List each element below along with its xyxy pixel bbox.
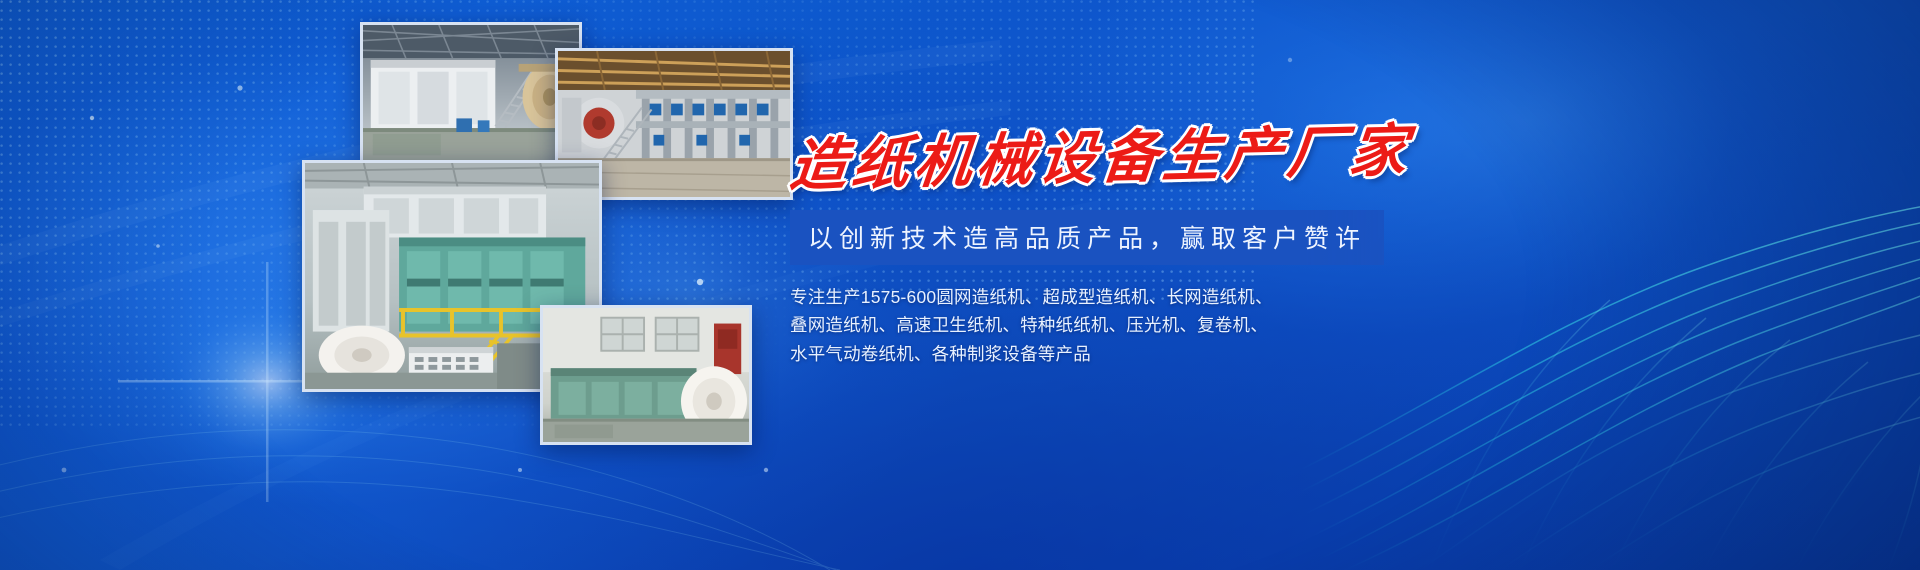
- banner-subtitle: 以创新技术造高品质产品，赢取客户赞许: [808, 219, 1366, 255]
- photo-bottom: [540, 305, 752, 445]
- banner-description: 专注生产1575-600圆网造纸机、超成型造纸机、长网造纸机、叠网造纸机、高速卫…: [790, 283, 1280, 368]
- banner-headline: 造纸机械设备生产厂家: [787, 121, 1495, 196]
- photo-top-left: [360, 22, 582, 164]
- photo-collage: [0, 0, 820, 570]
- banner-text-block: 造纸机械设备生产厂家 以创新技术造高品质产品，赢取客户赞许 专注生产1575-6…: [790, 138, 1490, 368]
- hero-banner: 造纸机械设备生产厂家 以创新技术造高品质产品，赢取客户赞许 专注生产1575-6…: [0, 0, 1920, 570]
- banner-subtitle-bar: 以创新技术造高品质产品，赢取客户赞许: [790, 210, 1384, 265]
